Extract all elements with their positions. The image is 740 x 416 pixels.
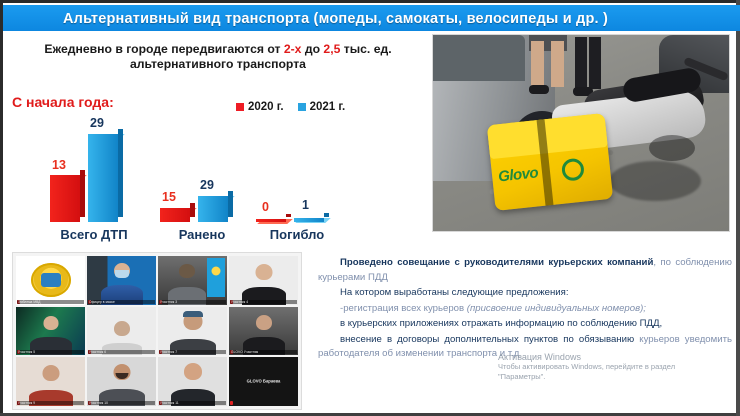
video-tile-name: Участник 3	[159, 300, 226, 304]
bar-pair: 0 1	[252, 118, 344, 222]
legend-swatch-2021	[298, 103, 306, 111]
bar-chart: 13 29 Всего ДТП 15	[8, 118, 328, 240]
body-p3-a: -регистрация всех курьеров	[340, 303, 467, 314]
intro-line2: альтернативного транспорта	[18, 57, 418, 72]
video-tile-name: Участник 11	[159, 401, 226, 405]
presentation-slide: Альтернативный вид транспорта (мопеды, с…	[0, 0, 740, 416]
photo-leg	[531, 41, 544, 87]
bar-2021-pogiblo	[294, 218, 324, 222]
photo-shadow	[649, 135, 695, 161]
slide-title: Альтернативный вид транспорта (мопеды, с…	[63, 11, 735, 27]
bar-pair: 15 29	[156, 118, 248, 222]
tile-background: GLOVO Бараева	[229, 357, 298, 406]
video-tile-name: Эмблема МВД	[17, 300, 84, 304]
video-tile-name: Офицер в маске	[88, 300, 155, 304]
bar-front-face	[198, 196, 228, 222]
video-tile-name: GLOVO Участник	[230, 350, 297, 354]
video-tile-participant-5[interactable]: Участник 5	[16, 307, 85, 356]
bar-category-vsego-dtp: Всего ДТП	[40, 227, 148, 242]
bar-front-face	[50, 175, 80, 222]
video-tile-name: Участник 7	[159, 350, 226, 354]
bar-group-raneno: 15 29 Ранено	[156, 118, 248, 222]
participant-head	[179, 264, 195, 278]
video-tile-name: GLOVO Бараева	[247, 378, 281, 383]
bar-group-vsego-dtp: 13 29 Всего ДТП	[46, 118, 142, 222]
bar-2020-vsego-dtp	[50, 175, 80, 222]
legend-item-2021: 2021 г.	[298, 101, 346, 113]
intro-part2: до	[301, 42, 323, 56]
intro-highlight-2: 2,5	[323, 42, 340, 56]
video-tile-participant-6[interactable]: Участник 6	[87, 307, 156, 356]
bar-category-pogiblo: Погибло	[244, 227, 350, 242]
participant-head	[42, 365, 59, 381]
intro-text: Ежедневно в городе передвигаются от 2-х …	[18, 42, 418, 72]
photo-glovo-bag: Glovo	[487, 113, 613, 211]
body-paragraph-3: -регистрация всех курьеров (присвоение и…	[318, 302, 732, 317]
body-text-block: Проведено совещание с руководителями кур…	[318, 256, 732, 408]
bar-side-face	[190, 203, 195, 217]
intro-part3: тыс. ед.	[340, 42, 391, 56]
bar-front-face	[294, 218, 324, 222]
photo-leg	[551, 41, 564, 87]
video-tile-name: Участник 4	[230, 300, 297, 304]
video-tile-emblem[interactable]: Эмблема МВД	[16, 256, 85, 305]
body-p5-a: внесение в договоры дополнительных пункт…	[340, 334, 639, 345]
photo-bag-logo-mark	[561, 158, 585, 182]
photo-shoe	[529, 85, 549, 94]
participant-head	[43, 316, 58, 330]
slide-border-left	[0, 0, 3, 416]
bar-front-face	[88, 134, 118, 222]
chart-heading: С начала года:	[12, 94, 114, 110]
legend-swatch-2020	[236, 103, 244, 111]
flag-icon	[207, 258, 225, 297]
bar-value-2021-pogiblo: 1	[302, 198, 309, 212]
bar-value-2020-vsego-dtp: 13	[52, 158, 66, 172]
bar-side-face	[80, 170, 85, 217]
photo-car-window	[432, 35, 525, 81]
bar-2021-vsego-dtp	[88, 134, 118, 222]
bar-front-face	[160, 208, 190, 222]
video-tile-participant-10[interactable]: Участник 10	[87, 357, 156, 406]
video-tile-name: Участник 5	[17, 350, 84, 354]
photo-leg	[575, 37, 587, 89]
bar-category-raneno: Ранено	[150, 227, 254, 242]
bar-side-face	[324, 213, 329, 217]
video-tile-name: Участник 6	[88, 350, 155, 354]
bar-side-face	[118, 129, 123, 217]
face-mask-icon	[115, 270, 129, 278]
participant-head	[184, 363, 202, 380]
photo-shadow	[609, 161, 701, 201]
video-tile-participant-3[interactable]: Участник 3	[158, 256, 227, 305]
mic-muted-icon	[230, 401, 233, 405]
video-tile-participant-7[interactable]: Участник 7	[158, 307, 227, 356]
chart-legend: 2020 г. 2021 г.	[236, 101, 345, 113]
bar-value-2021-raneno: 29	[200, 178, 214, 192]
bar-group-pogiblo: 0 1 Погибло	[252, 118, 344, 222]
bar-2020-pogiblo	[256, 219, 286, 222]
video-tile-glovo-baraeva[interactable]: GLOVO Бараева	[229, 357, 298, 406]
intro-highlight-1: 2-х	[284, 42, 302, 56]
video-tile-name: Участник 9	[17, 401, 84, 405]
video-tile-officer[interactable]: Офицер в маске	[87, 256, 156, 305]
state-emblem-icon	[31, 263, 71, 297]
body-paragraph-1: Проведено совещание с руководителями кур…	[318, 256, 732, 285]
body-paragraph-4: в курьерских приложениях отражать информ…	[318, 317, 732, 332]
video-tile-name: Участник 10	[88, 401, 155, 405]
bar-value-2021-vsego-dtp: 29	[90, 116, 104, 130]
video-tile-participant-4[interactable]: Участник 4	[229, 256, 298, 305]
intro-part1: Ежедневно в городе передвигаются от	[44, 42, 283, 56]
slide-border-top	[0, 0, 740, 3]
participant-head	[256, 315, 272, 330]
participant-head	[114, 321, 130, 336]
bar-2020-raneno	[160, 208, 190, 222]
body-p1-bold: Проведено совещание с руководителями кур…	[340, 257, 653, 268]
cap-icon	[183, 311, 203, 317]
bar-side-face	[286, 214, 291, 217]
body-p3-b: (присвоение индивидуальных номеров);	[467, 303, 646, 314]
photo-bag-logo-text: Glovo	[497, 164, 539, 185]
accident-photo: Glovo	[432, 34, 730, 232]
body-paragraph-2: На котором выработаны следующие предложе…	[318, 286, 732, 301]
video-conference-grid: Эмблема МВД Офицер в маске Участник 3	[12, 252, 302, 410]
bar-value-2020-raneno: 15	[162, 190, 176, 204]
video-tile-participant-9[interactable]: Участник 9	[16, 357, 85, 406]
slide-title-banner: Альтернативный вид транспорта (мопеды, с…	[3, 5, 740, 31]
photo-leg	[589, 37, 601, 89]
bar-2021-raneno	[198, 196, 228, 222]
body-paragraph-5: внесение в договоры дополнительных пункт…	[318, 333, 732, 362]
video-tiles: Эмблема МВД Офицер в маске Участник 3	[16, 256, 298, 406]
bar-value-2020-pogiblo: 0	[262, 200, 269, 214]
bar-pair: 13 29	[46, 118, 142, 222]
bar-side-face	[228, 191, 233, 217]
bar-front-face	[256, 219, 286, 222]
legend-label-2021: 2021 г.	[310, 101, 346, 113]
participant-head	[255, 264, 272, 280]
legend-label-2020: 2020 г.	[248, 101, 284, 113]
slide-border-right	[736, 0, 740, 416]
legend-item-2020: 2020 г.	[236, 101, 284, 113]
video-tile-participant-8[interactable]: GLOVO Участник	[229, 307, 298, 356]
video-tile-participant-11[interactable]: Участник 11	[158, 357, 227, 406]
